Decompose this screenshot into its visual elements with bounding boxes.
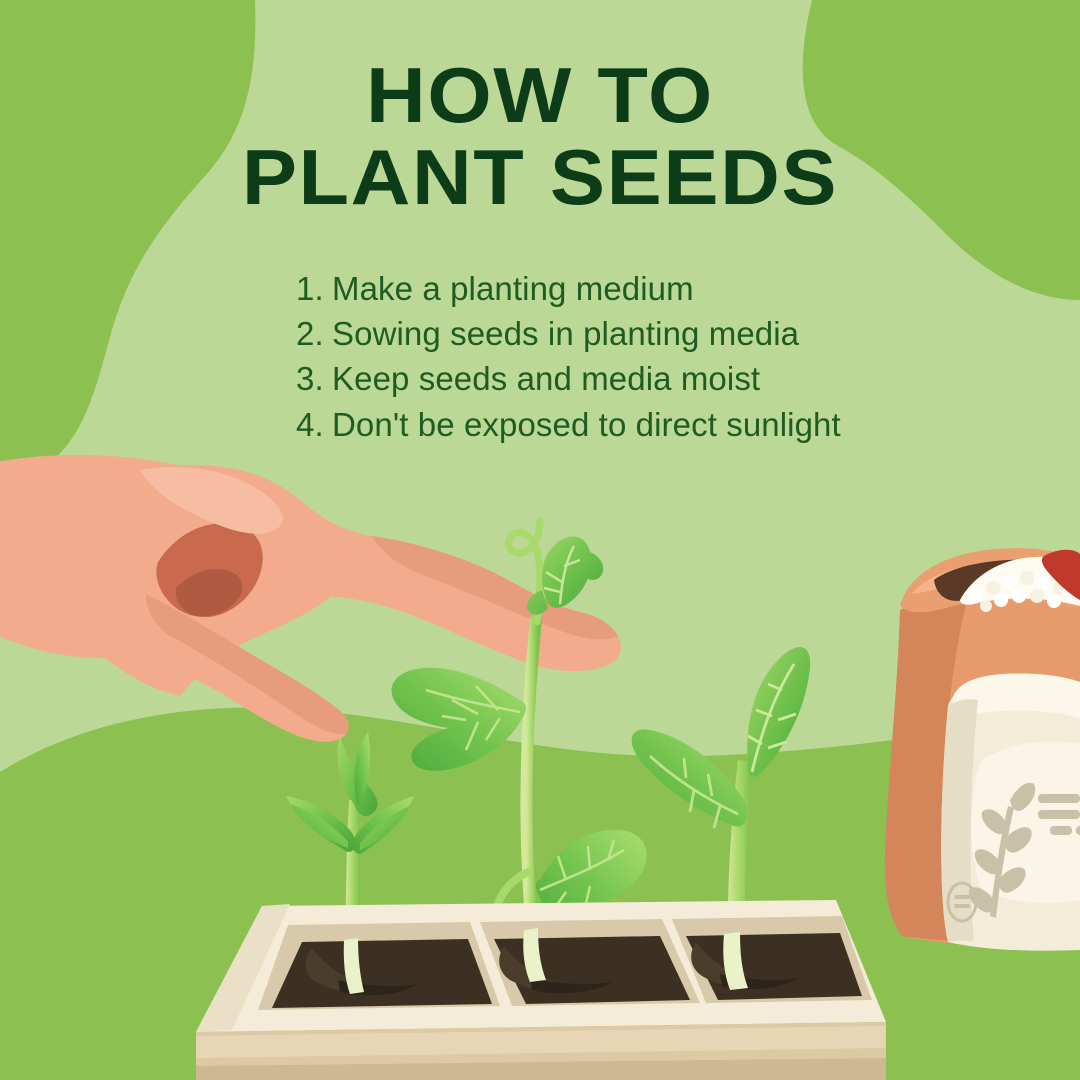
stem-base-overlay [0,0,1080,1080]
step-number: 4. [296,402,332,447]
step-number: 1. [296,266,332,311]
step-text: Keep seeds and media moist [332,356,760,401]
poster-canvas: HOW TO PLANT SEEDS 1. Make a planting me… [0,0,1080,1080]
step-text: Don't be exposed to direct sunlight [332,402,841,447]
list-item: 1. Make a planting medium [296,266,936,311]
center-stem-over-soil [523,928,546,982]
left-stem-over-soil [344,938,364,994]
right-stem-over-soil [723,932,748,990]
step-text: Make a planting medium [332,266,694,311]
list-item: 4. Don't be exposed to direct sunlight [296,402,936,447]
list-item: 2. Sowing seeds in planting media [296,311,936,356]
steps-list: 1. Make a planting medium 2. Sowing seed… [296,266,936,447]
step-text: Sowing seeds in planting media [332,311,799,356]
step-number: 3. [296,356,332,401]
list-item: 3. Keep seeds and media moist [296,356,936,401]
step-number: 2. [296,311,332,356]
